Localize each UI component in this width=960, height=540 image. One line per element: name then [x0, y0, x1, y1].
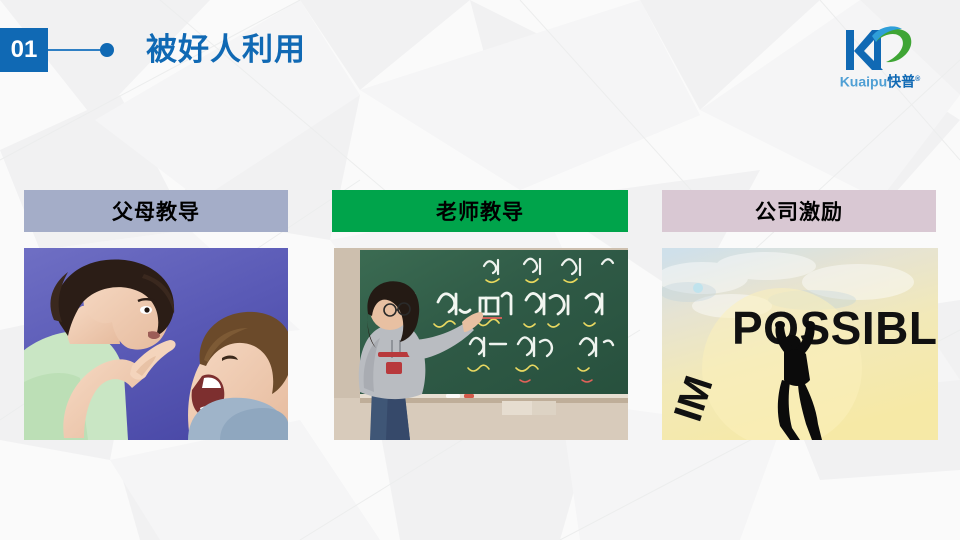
slide-root: 01 被好人利用 Kuaipu快普® 父母教导: [0, 0, 960, 540]
photo-parent-scolding-child: [24, 248, 288, 440]
column-header-teacher: 老师教导: [332, 190, 628, 232]
page-title: 被好人利用: [146, 28, 306, 72]
section-number-badge: 01: [0, 28, 48, 72]
column-header-label: 老师教导: [436, 196, 524, 226]
section-number-label: 01: [11, 38, 38, 62]
photo-teacher-at-chalkboard: [334, 248, 628, 440]
logo-english-text: Kuaipu: [840, 74, 887, 90]
kuaipu-mark-icon: [842, 24, 918, 72]
logo-wordmark: Kuaipu快普®: [824, 72, 936, 90]
title-connector-dot: [100, 43, 114, 57]
column-header-label: 父母教导: [112, 196, 200, 226]
logo-registered-mark: ®: [915, 76, 920, 83]
photo-impossible-possible: POSSIBLE IM: [662, 248, 938, 440]
logo-chinese-text: 快普: [887, 74, 915, 90]
column-header-parents: 父母教导: [24, 190, 288, 232]
possible-word: POSSIBLE: [732, 302, 938, 354]
title-connector-line: [48, 49, 106, 51]
brand-logo: Kuaipu快普®: [824, 24, 936, 90]
column-header-company: 公司激励: [662, 190, 936, 232]
column-header-label: 公司激励: [755, 196, 843, 226]
